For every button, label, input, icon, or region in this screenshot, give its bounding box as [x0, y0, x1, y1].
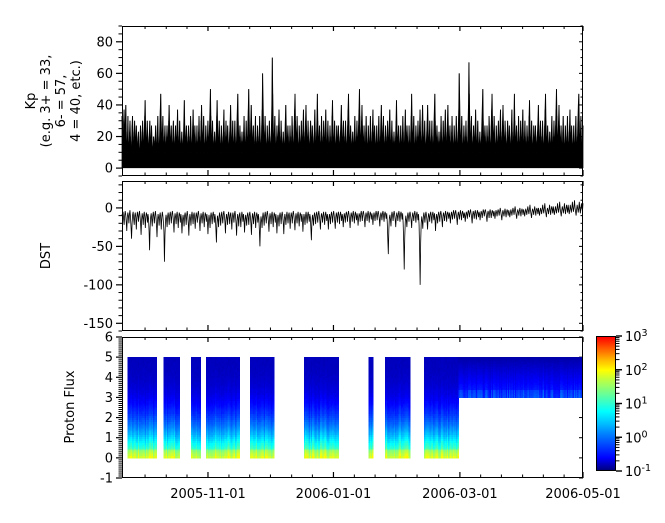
y-tick-label: 0 [105, 201, 113, 216]
y-tick-label: 0 [105, 451, 113, 466]
y-tick-label: -1 [100, 472, 113, 487]
colorbar-tick-label: 100 [625, 429, 648, 446]
y-tick-label: 60 [96, 67, 113, 82]
colorbar-tick-label: 102 [625, 362, 648, 379]
y-tick-label: 0 [105, 162, 113, 177]
y-tick-label: 2 [105, 411, 113, 426]
y-tick-label: 6 [105, 331, 113, 346]
x-tick-label: 2006-03-01 [422, 487, 498, 502]
colorbar-tick-label: 101 [625, 396, 648, 413]
y-tick-label: 1 [105, 431, 113, 446]
y-tick-label: -100 [83, 278, 113, 293]
y-tick-label: 40 [96, 98, 113, 113]
y-tick-label: 4 [105, 371, 113, 386]
x-tick-label: 2005-11-01 [170, 487, 246, 502]
y-tick-label: -50 [92, 240, 113, 255]
y-tick-label: 80 [96, 35, 113, 50]
y-tick-label: 5 [105, 351, 113, 366]
figure-canvas: Kp (e.g. 3+ = 33, 6- = 57, 4 = 40, etc.)… [0, 0, 665, 523]
colorbar-tick-label: 103 [625, 328, 648, 345]
plot-overlay: 0204060800-50-100-150-101234562005-11-01… [0, 0, 665, 523]
y-tick-label: 3 [105, 391, 113, 406]
proton-flux-heatmap [128, 357, 584, 458]
y-tick-label: 20 [96, 130, 113, 145]
x-tick-label: 2006-05-01 [545, 487, 621, 502]
dst-trace [122, 200, 583, 285]
colorbar-tick-label: 10-1 [625, 463, 651, 480]
x-tick-label: 2006-01-01 [296, 487, 372, 502]
